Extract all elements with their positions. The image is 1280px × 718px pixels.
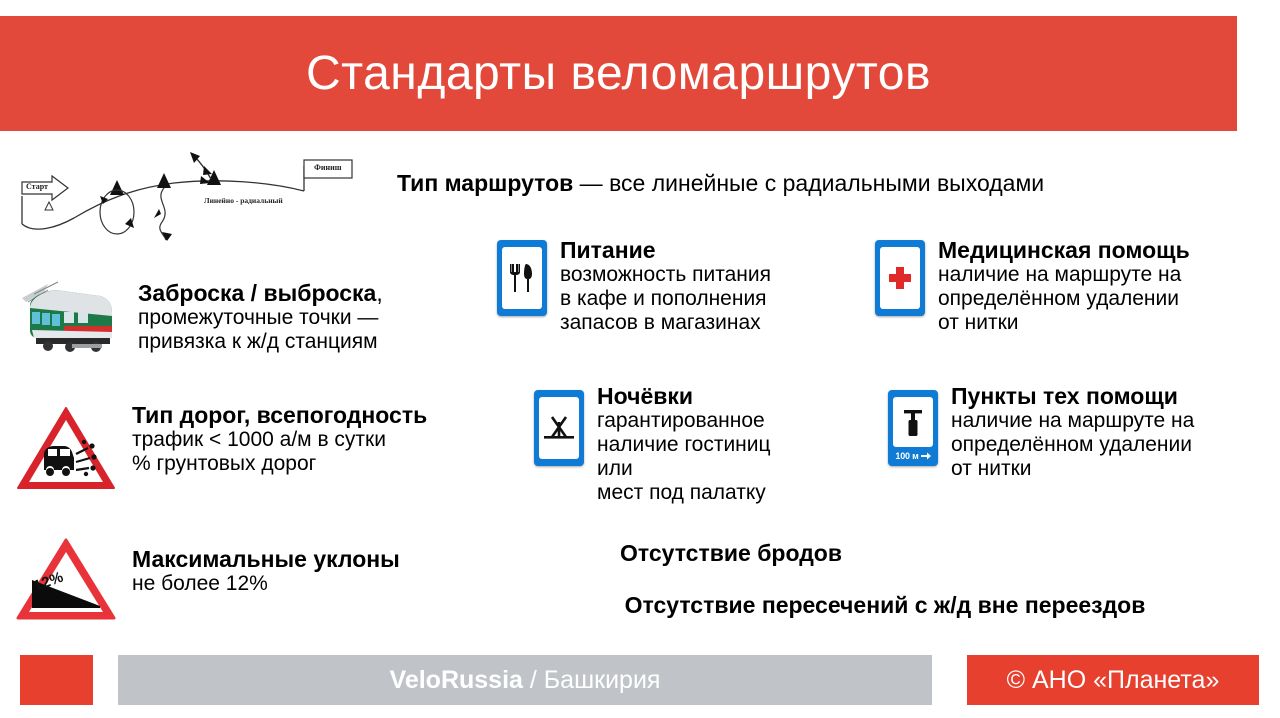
route-schematic-svg	[4, 152, 356, 244]
feature-max-gradient-title-text: Максимальные уклоны	[132, 546, 400, 572]
statement-no-fords: Отсутствие бродов	[620, 540, 842, 567]
feature-road-type-title-text: Тип дорог, всепогодность	[132, 402, 427, 428]
feature-overnight-line-3: или	[597, 457, 771, 481]
loose-gravel-warning-icon	[14, 402, 118, 494]
footer-brand-rest: / Башкирия	[523, 666, 661, 694]
footer-brand-text: VeloRussia / Башкирия	[390, 666, 661, 695]
feature-overnight-title-text: Ночёвки	[597, 383, 693, 409]
feature-overnight-title: Ночёвки	[597, 383, 771, 409]
feature-overnight-line-1: гарантированное	[597, 409, 771, 433]
service-station-distance-band: 100 м	[891, 448, 935, 464]
diagram-type-label: Линейно - радиальный	[204, 196, 283, 205]
cutlery-sign-plate	[502, 247, 542, 309]
steep-ascent-warning-icon: 12%	[14, 536, 118, 624]
feature-max-gradient: 12% Максимальные уклоны не более 12%	[14, 536, 400, 624]
route-type-lead: Тип маршрутов	[397, 170, 573, 196]
feature-food: Питание возможность питания в кафе и поп…	[497, 240, 771, 335]
feature-food-line-1: возможность питания	[560, 263, 771, 287]
feature-tech-help-line-2: определённом удалении	[951, 433, 1194, 457]
red-cross-glyph	[885, 263, 915, 293]
cutlery-sign-icon	[497, 240, 547, 316]
feature-tech-help-line-1: наличие на маршруте на	[951, 409, 1194, 433]
feature-max-gradient-title: Максимальные уклоны	[132, 546, 400, 572]
feature-drop-off-title: Заброска / выброска,	[138, 280, 383, 306]
train-icon	[14, 276, 126, 356]
loose-gravel-warning-svg	[14, 402, 118, 494]
diagram-start-label: Старт	[26, 182, 48, 191]
feature-max-gradient-line-1: не более 12%	[132, 572, 400, 596]
feature-food-line-3: запасов в магазинах	[560, 311, 771, 335]
feature-medical-line-1: наличие на маршруте на	[938, 263, 1190, 287]
feature-drop-off-title-suffix: ,	[376, 280, 382, 306]
feature-road-type-line-2: % грунтовых дорог	[132, 452, 427, 476]
right-arrow-icon	[921, 452, 931, 460]
feature-overnight: Ночёвки гарантированное наличие гостиниц…	[534, 390, 771, 505]
service-station-sign-plate	[893, 397, 933, 447]
title-banner: Стандарты веломаршрутов	[0, 16, 1237, 131]
route-schematic-diagram: Старт Финиш Линейно - радиальный	[4, 152, 356, 244]
wrench-glyph	[900, 406, 926, 438]
feature-overnight-line-4: мест под палатку	[597, 481, 771, 505]
footer-red-marker	[20, 655, 93, 705]
feature-drop-off: Заброска / выброска, промежуточные точки…	[14, 276, 383, 356]
first-aid-sign-icon	[875, 240, 925, 316]
page-title: Стандарты веломаршрутов	[306, 50, 931, 98]
feature-road-type-line-1: трафик < 1000 а/м в сутки	[132, 428, 427, 452]
first-aid-sign-plate	[880, 247, 920, 309]
tent-sign-icon	[534, 390, 584, 466]
feature-medical-title: Медицинская помощь	[938, 237, 1190, 263]
feature-medical-title-text: Медицинская помощь	[938, 237, 1190, 263]
feature-tech-help-title: Пункты тех помощи	[951, 383, 1194, 409]
route-type-statement: Тип маршрутов — все линейные с радиальны…	[397, 170, 1044, 197]
feature-medical-line-3: от нитки	[938, 311, 1190, 335]
service-station-sign-icon: 100 м	[888, 390, 938, 466]
diagram-finish-label: Финиш	[314, 163, 341, 172]
tent-sign-plate	[539, 397, 579, 459]
feature-drop-off-title-text: Заброска / выброска	[138, 280, 376, 306]
feature-tech-help: 100 м Пункты тех помощи наличие на маршр…	[888, 390, 1194, 481]
footer-brand-bar: VeloRussia / Башкирия	[118, 655, 932, 705]
route-type-rest: — все линейные с радиальными выходами	[573, 170, 1044, 196]
feature-road-type-title: Тип дорог, всепогодность	[132, 402, 427, 428]
feature-drop-off-line-1: промежуточные точки —	[138, 306, 383, 330]
feature-food-title: Питание	[560, 237, 771, 263]
feature-road-type: Тип дорог, всепогодность трафик < 1000 а…	[14, 402, 427, 494]
service-station-distance-label: 100 м	[895, 451, 918, 461]
footer-copyright-bar: © АНО «Планета»	[967, 655, 1259, 705]
feature-food-line-2: в кафе и пополнения	[560, 287, 771, 311]
feature-food-title-text: Питание	[560, 237, 656, 263]
cutlery-glyph	[508, 261, 536, 295]
footer-brand-bold: VeloRussia	[390, 666, 523, 694]
feature-medical: Медицинская помощь наличие на маршруте н…	[875, 240, 1190, 335]
statement-no-rail-crossings: Отсутствие пересечений с ж/д вне переезд…	[625, 592, 1146, 619]
feature-medical-line-2: определённом удалении	[938, 287, 1190, 311]
tent-glyph	[542, 413, 576, 443]
feature-tech-help-line-3: от нитки	[951, 457, 1194, 481]
steep-ascent-warning-svg: 12%	[14, 536, 118, 624]
feature-tech-help-title-text: Пункты тех помощи	[951, 383, 1178, 409]
footer-copyright-text: © АНО «Планета»	[1007, 666, 1220, 695]
feature-drop-off-line-2: привязка к ж/д станциям	[138, 330, 383, 354]
feature-overnight-line-2: наличие гостиниц	[597, 433, 771, 457]
